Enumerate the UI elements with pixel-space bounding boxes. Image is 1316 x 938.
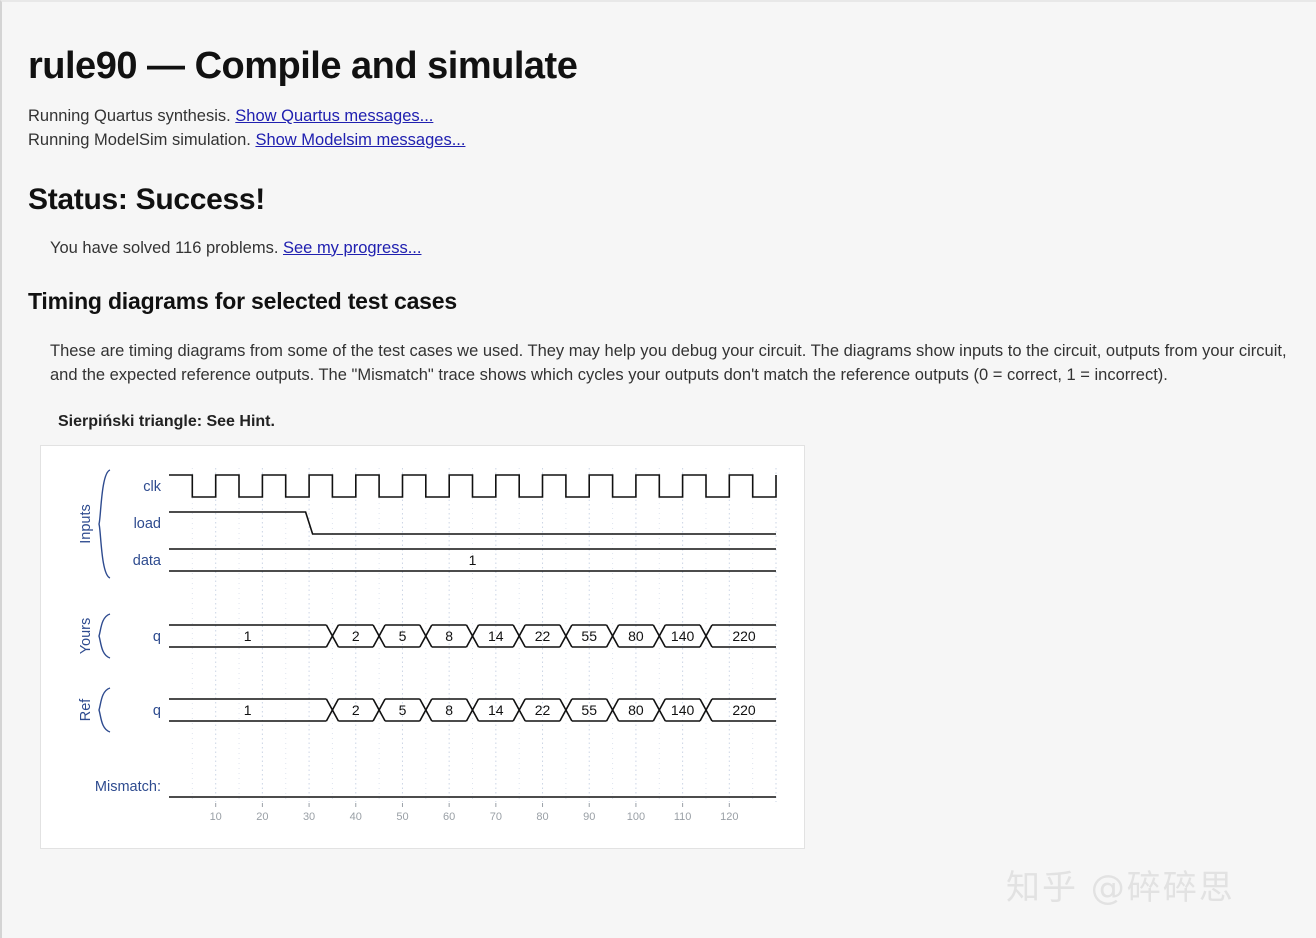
watermark: 知乎 @碎碎思 xyxy=(1006,860,1235,909)
yours-q-bus-value: 140 xyxy=(671,628,695,644)
x-tick-label: 20 xyxy=(256,811,268,823)
x-tick-label: 50 xyxy=(396,811,408,823)
x-tick-label: 90 xyxy=(583,811,595,823)
signal-label-yours_q: q xyxy=(153,629,161,645)
signal-label-load: load xyxy=(134,516,161,532)
signal-label-data: data xyxy=(133,553,162,569)
progress-text: You have solved 116 problems. xyxy=(50,239,283,257)
modelsim-run-line: Running ModelSim simulation. Show Models… xyxy=(28,128,1316,152)
ref-q-bus-value: 55 xyxy=(581,702,597,718)
ref-brace xyxy=(99,688,110,732)
yours-q-bus-value: 22 xyxy=(535,628,551,644)
ref-q-bus-value: 5 xyxy=(399,702,407,718)
page-title: rule90 — Compile and simulate xyxy=(28,46,1316,88)
ref-q-bus-value: 140 xyxy=(671,702,695,718)
x-axis-tick-labels: 102030405060708090100110120 xyxy=(210,803,739,823)
status-heading: Status: Success! xyxy=(28,183,1316,217)
quartus-run-line: Running Quartus synthesis. Show Quartus … xyxy=(28,104,1316,128)
ref-q-bus-value: 80 xyxy=(628,702,644,718)
yours-q-bus-value: 8 xyxy=(445,628,453,644)
bus-value-labels: 1125814225580140220125814225580140220 xyxy=(244,552,756,718)
page-root: rule90 — Compile and simulate Running Qu… xyxy=(0,0,1316,938)
signal-label-clk: clk xyxy=(143,479,161,495)
mismatch-label: Mismatch: xyxy=(95,779,161,795)
ref-q-bus-value: 14 xyxy=(488,702,504,718)
signal-label-ref_q: q xyxy=(153,703,161,719)
yours-q-bus-value: 14 xyxy=(488,628,504,644)
yours-q-bus-value: 80 xyxy=(628,628,644,644)
yours-brace xyxy=(99,614,110,658)
ref-q-bus-value: 22 xyxy=(535,702,551,718)
clk-waveform xyxy=(169,475,776,497)
yours-q-bus-value: 5 xyxy=(399,628,407,644)
x-tick-label: 10 xyxy=(210,811,222,823)
timing-diagram-svg: InputsYoursRef clkloaddataqqMismatch: 11… xyxy=(41,446,804,848)
progress-line: You have solved 116 problems. See my pro… xyxy=(50,239,1316,258)
page-content: rule90 — Compile and simulate Running Qu… xyxy=(2,2,1316,849)
test-case-title: Sierpiński triangle: See Hint. xyxy=(58,413,1316,431)
data-bus-value: 1 xyxy=(469,552,477,568)
show-modelsim-messages-link[interactable]: Show Modelsim messages... xyxy=(255,131,465,149)
signal-name-labels: clkloaddataqqMismatch: xyxy=(95,479,162,795)
yours-group-label: Yours xyxy=(78,617,94,654)
yours-q-bus-value: 1 xyxy=(244,628,252,644)
yours-q-bus-value: 2 xyxy=(352,628,360,644)
signal-group-braces: InputsYoursRef xyxy=(78,470,110,732)
ref-q-bus-value: 8 xyxy=(445,702,453,718)
timing-diagram-panel: InputsYoursRef clkloaddataqqMismatch: 11… xyxy=(40,445,805,849)
ref-q-bus-value: 220 xyxy=(732,702,756,718)
x-tick-label: 30 xyxy=(303,811,315,823)
timing-section-heading: Timing diagrams for selected test cases xyxy=(28,288,1316,315)
x-tick-label: 80 xyxy=(536,811,548,823)
ref-q-bus-value: 1 xyxy=(244,702,252,718)
timing-section-blurb: These are timing diagrams from some of t… xyxy=(50,339,1296,387)
x-tick-label: 70 xyxy=(490,811,502,823)
show-quartus-messages-link[interactable]: Show Quartus messages... xyxy=(235,107,433,125)
inputs-group-label: Inputs xyxy=(78,504,94,544)
x-tick-label: 120 xyxy=(720,811,738,823)
x-tick-label: 40 xyxy=(350,811,362,823)
ref-group-label: Ref xyxy=(78,698,94,722)
x-tick-label: 110 xyxy=(674,811,692,823)
inputs-brace xyxy=(99,470,110,578)
run-status-lines: Running Quartus synthesis. Show Quartus … xyxy=(28,104,1316,153)
yours-q-bus-value: 55 xyxy=(581,628,597,644)
x-tick-label: 60 xyxy=(443,811,455,823)
quartus-run-text: Running Quartus synthesis. xyxy=(28,107,235,125)
ref-q-bus-value: 2 xyxy=(352,702,360,718)
see-my-progress-link[interactable]: See my progress... xyxy=(283,239,421,257)
x-tick-label: 100 xyxy=(627,811,645,823)
yours-q-bus-value: 220 xyxy=(732,628,756,644)
modelsim-run-text: Running ModelSim simulation. xyxy=(28,131,255,149)
